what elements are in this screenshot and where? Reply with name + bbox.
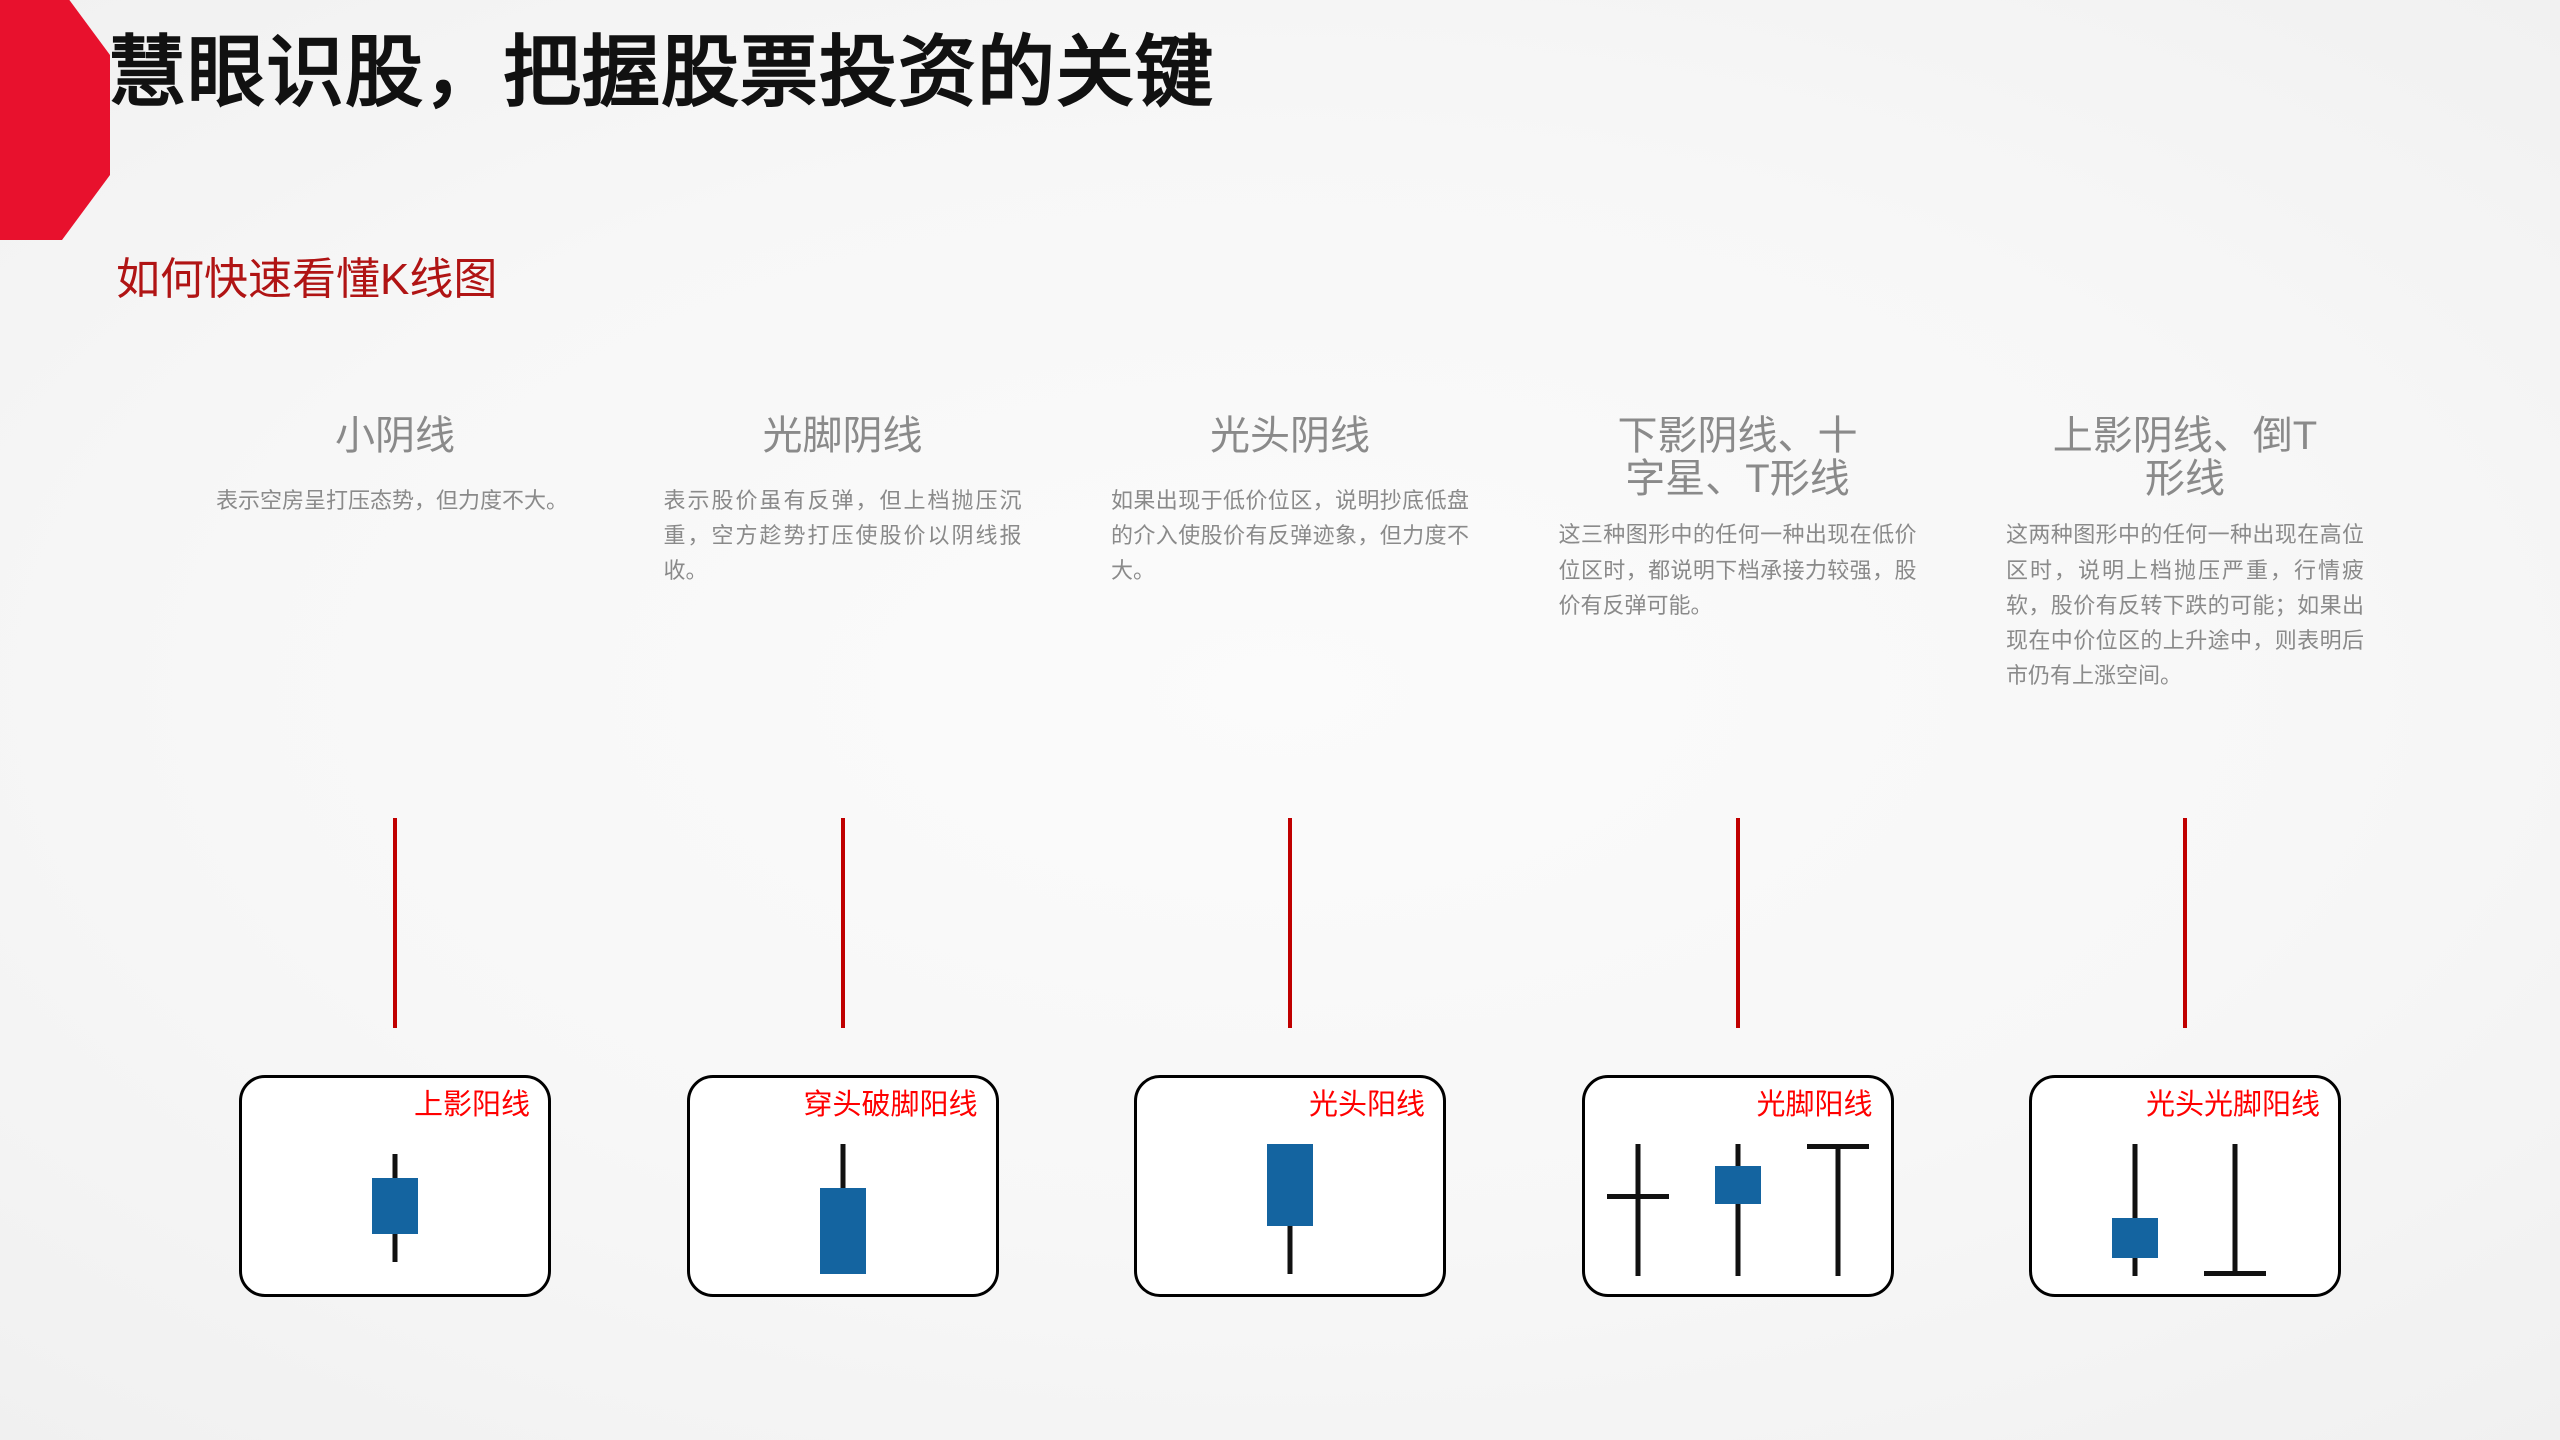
- slide-canvas: 慧眼识股，把握股票投资的关键 如何快速看懂K线图 小阴线 表示空房呈打压态势，但…: [0, 0, 2560, 1440]
- upper-shadow-yang-candle: [358, 1140, 432, 1280]
- candle-card[interactable]: 光头阳线: [1134, 1075, 1446, 1297]
- column-description: 表示空房呈打压态势，但力度不大。: [216, 483, 574, 518]
- bald-head-yang-candle: [1253, 1140, 1327, 1280]
- candle-figure-row: [2032, 1140, 2338, 1280]
- connector-slot: [1990, 818, 2380, 1028]
- candle-card[interactable]: 光脚阳线: [1582, 1075, 1894, 1297]
- column-item: 小阴线 表示空房呈打压态势，但力度不大。: [200, 415, 590, 815]
- card-label: 穿头破脚阳线: [803, 1088, 977, 1123]
- candle-body: [372, 1178, 418, 1234]
- vertical-rule-icon: [1736, 818, 1740, 1028]
- card-slot: 穿头破脚阳线: [648, 1075, 1038, 1295]
- card-label: 光头光脚阳线: [2146, 1088, 2320, 1123]
- column-heading: 下影阴线、十 字星、T形线: [1618, 415, 1858, 501]
- card-label: 光脚阳线: [1756, 1088, 1872, 1123]
- red-pentagon-banner-icon: [0, 0, 110, 240]
- column-description: 表示股价虽有反弹，但上档抛压沉重，空方趁势打压使股价以阴线报收。: [664, 483, 1022, 589]
- candle-crossbar: [1607, 1194, 1669, 1199]
- candle-card-group: 上影阳线 穿头破脚阳线 光头阳线 光脚阳线 光头光脚阳线: [200, 1075, 2380, 1295]
- candle-wick: [1288, 1224, 1293, 1274]
- lower-shadow-yang-candle: [1701, 1140, 1775, 1280]
- candle-wick: [2233, 1144, 2238, 1276]
- candle-wick: [840, 1144, 845, 1194]
- column-heading: 光脚阴线: [763, 415, 923, 467]
- connector-slot: [1095, 818, 1485, 1028]
- column-item: 下影阴线、十 字星、T形线 这三种图形中的任何一种出现在低价位区时，都说明下档承…: [1543, 415, 1933, 815]
- column-description: 这三种图形中的任何一种出现在低价位区时，都说明下档承接力较强，股价有反弹可能。: [1559, 517, 1917, 623]
- candle-wick: [1635, 1144, 1640, 1276]
- vertical-rule-icon: [393, 818, 397, 1028]
- card-slot: 光头阳线: [1095, 1075, 1485, 1295]
- candle-body: [1715, 1166, 1761, 1204]
- connector-slot: [1543, 818, 1933, 1028]
- candle-figure-row: [242, 1140, 548, 1280]
- column-item: 光头阴线 如果出现于低价位区，说明抄底低盘的介入使股价有反弹迹象，但力度不大。: [1095, 415, 1485, 815]
- candle-figure-row: [1585, 1140, 1891, 1280]
- connector-slot: [200, 818, 590, 1028]
- candle-body: [1267, 1144, 1313, 1226]
- candle-card[interactable]: 穿头破脚阳线: [687, 1075, 999, 1297]
- candle-figure-row: [690, 1140, 996, 1280]
- card-slot: 光脚阳线: [1543, 1075, 1933, 1295]
- doji-cross-figure: [1601, 1140, 1675, 1280]
- card-label: 光头阳线: [1309, 1088, 1425, 1123]
- candle-crossbar: [1807, 1144, 1869, 1149]
- inverted-t-figure: [2198, 1140, 2272, 1280]
- card-slot: 光头光脚阳线: [1990, 1075, 2380, 1295]
- candle-body: [820, 1188, 866, 1274]
- candle-body: [2112, 1218, 2158, 1258]
- column-heading: 小阴线: [335, 415, 455, 467]
- connector-slot: [648, 818, 1038, 1028]
- t-shape-figure: [1801, 1140, 1875, 1280]
- upper-shadow-yin-candle: [2098, 1140, 2172, 1280]
- column-heading: 光头阴线: [1210, 415, 1370, 467]
- vertical-rule-icon: [2183, 818, 2187, 1028]
- candle-card[interactable]: 光头光脚阳线: [2029, 1075, 2341, 1297]
- candle-crossbar: [2204, 1271, 2266, 1276]
- vertical-rule-icon: [1288, 818, 1292, 1028]
- column-item: 上影阴线、倒T 形线 这两种图形中的任何一种出现在高位区时，说明上档抛压严重，行…: [1990, 415, 2380, 815]
- connector-rule-group: [200, 818, 2380, 1028]
- page-subtitle: 如何快速看懂K线图: [116, 254, 497, 307]
- column-description: 这两种图形中的任何一种出现在高位区时，说明上档抛压严重，行情疲软，股价有反转下跌…: [2006, 517, 2364, 693]
- candle-figure-row: [1137, 1140, 1443, 1280]
- long-body-yang-candle: [806, 1140, 880, 1280]
- column-item: 光脚阴线 表示股价虽有反弹，但上档抛压沉重，空方趁势打压使股价以阴线报收。: [648, 415, 1038, 815]
- column-heading: 上影阴线、倒T 形线: [2053, 415, 2317, 501]
- page-title: 慧眼识股，把握股票投资的关键: [108, 26, 1214, 118]
- candle-card[interactable]: 上影阳线: [239, 1075, 551, 1297]
- vertical-rule-icon: [841, 818, 845, 1028]
- column-description: 如果出现于低价位区，说明抄底低盘的介入使股价有反弹迹象，但力度不大。: [1111, 483, 1469, 589]
- card-slot: 上影阳线: [200, 1075, 590, 1295]
- column-group: 小阴线 表示空房呈打压态势，但力度不大。 光脚阴线 表示股价虽有反弹，但上档抛压…: [200, 415, 2380, 815]
- candle-wick: [1835, 1144, 1840, 1276]
- card-label: 上影阳线: [414, 1088, 530, 1123]
- candle-wick: [1735, 1144, 1740, 1276]
